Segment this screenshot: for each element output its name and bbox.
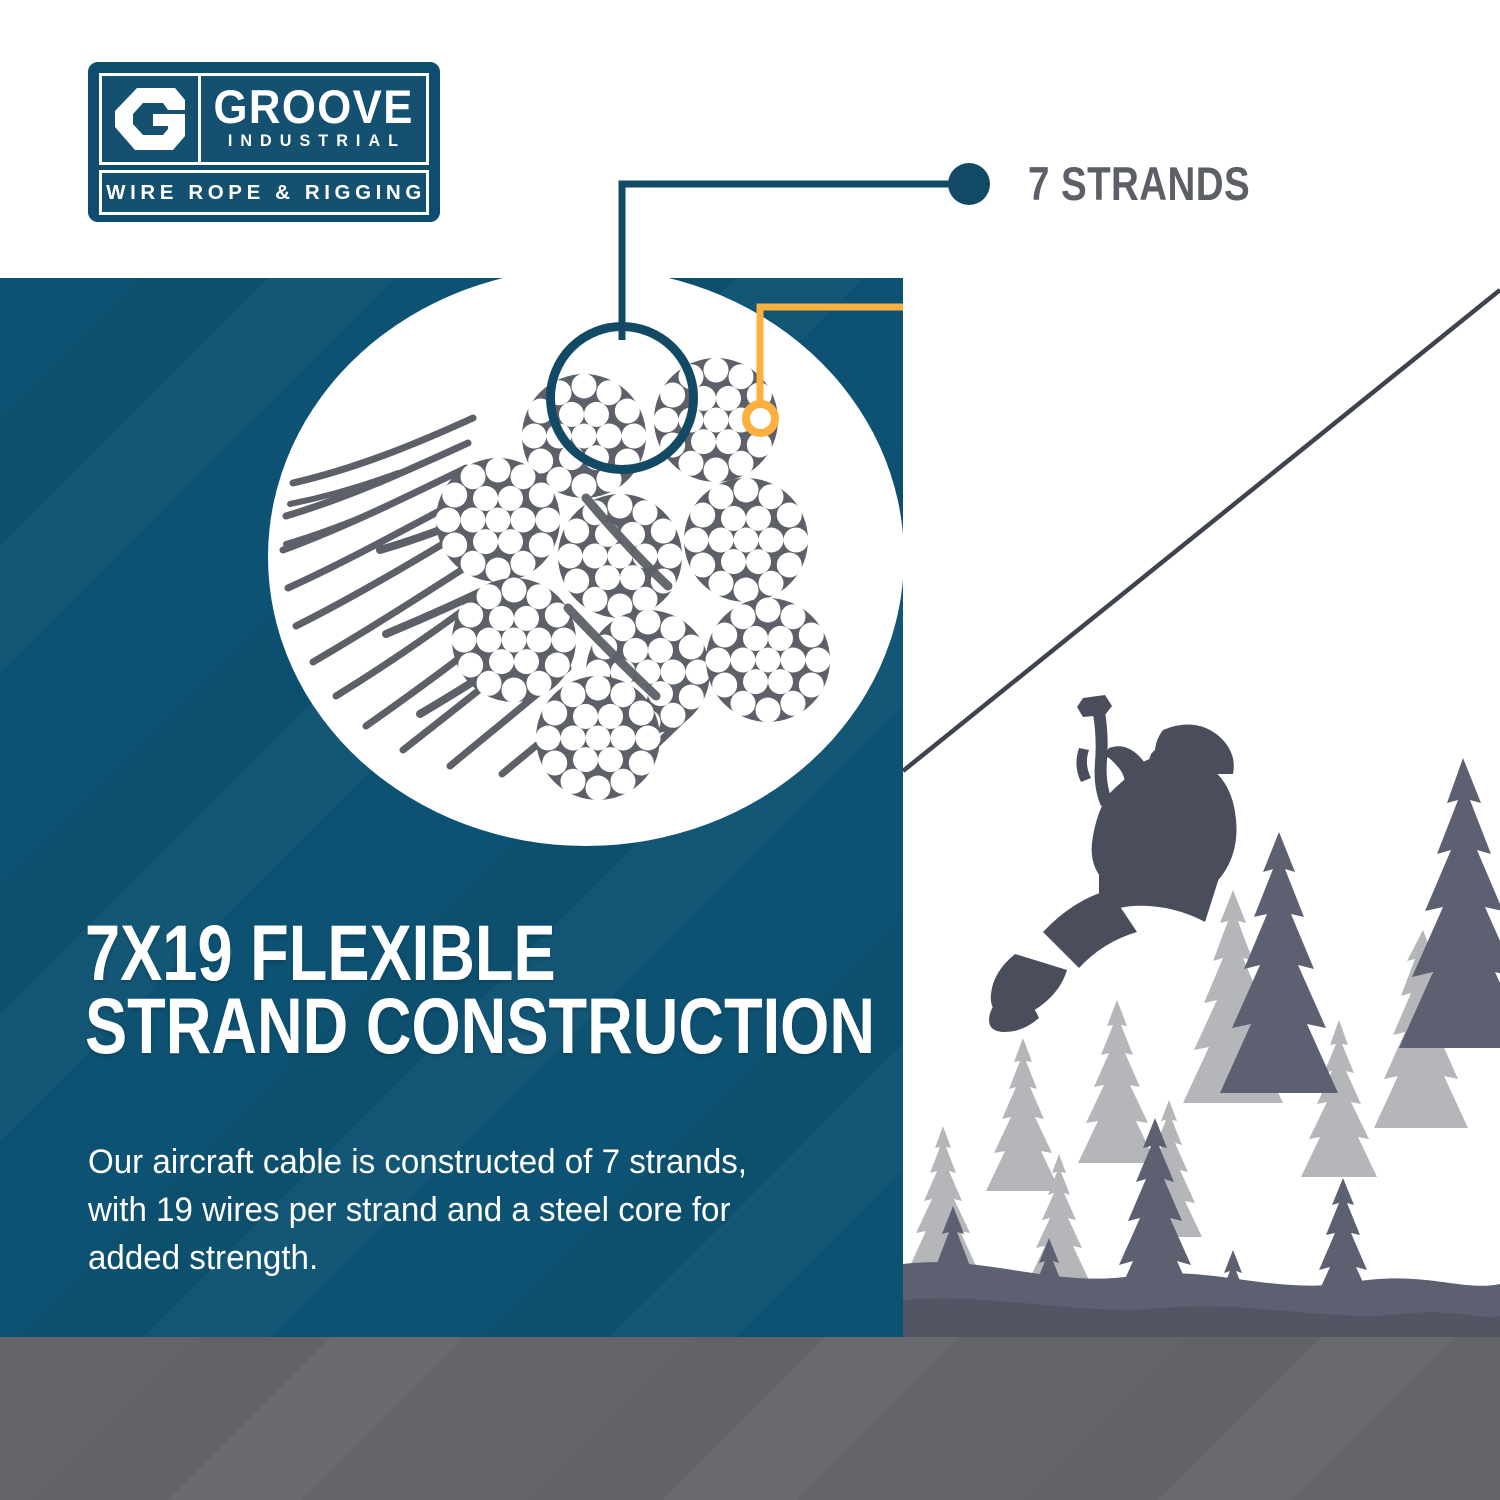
- groove-g-monogram-icon: [99, 73, 198, 165]
- strand-highlight-circle: [546, 322, 698, 474]
- logo-top-row: GROOVE INDUSTRIAL: [99, 73, 429, 165]
- infographic-canvas: GROOVE INDUSTRIAL WIRE ROPE & RIGGING: [0, 0, 1500, 1500]
- logo-tagline: WIRE ROPE & RIGGING: [106, 181, 426, 205]
- single-wire-ring-marker: [742, 400, 779, 437]
- headline-line-2: STRAND CONSTRUCTION: [85, 989, 717, 1062]
- logo-brand-subtitle: INDUSTRIAL: [228, 132, 406, 151]
- logo-brand-name: GROOVE: [213, 85, 413, 128]
- logo-inner: GROOVE INDUSTRIAL WIRE ROPE & RIGGING: [99, 73, 429, 211]
- body-paragraph: Our aircraft cable is constructed of 7 s…: [88, 1138, 760, 1282]
- logo-tagline-bar: WIRE ROPE & RIGGING: [99, 170, 429, 215]
- callout-item-strands[interactable]: 7 STRANDS: [948, 160, 1299, 207]
- zipline-forest-silhouette-scene: [903, 278, 1500, 1337]
- callout-label-strands: 7 STRANDS: [1028, 160, 1250, 207]
- page-title: 7X19 FLEXIBLE STRAND CONSTRUCTION: [85, 916, 717, 1063]
- bottom-gray-band: [0, 1337, 1500, 1500]
- headline-block: 7X19 FLEXIBLE STRAND CONSTRUCTION: [85, 916, 875, 1063]
- logo-wordmark: GROOVE INDUSTRIAL: [198, 73, 429, 165]
- navy-dot-marker: [948, 163, 990, 205]
- brand-logo[interactable]: GROOVE INDUSTRIAL WIRE ROPE & RIGGING: [88, 62, 440, 222]
- band-stripe-texture: [0, 1337, 1500, 1500]
